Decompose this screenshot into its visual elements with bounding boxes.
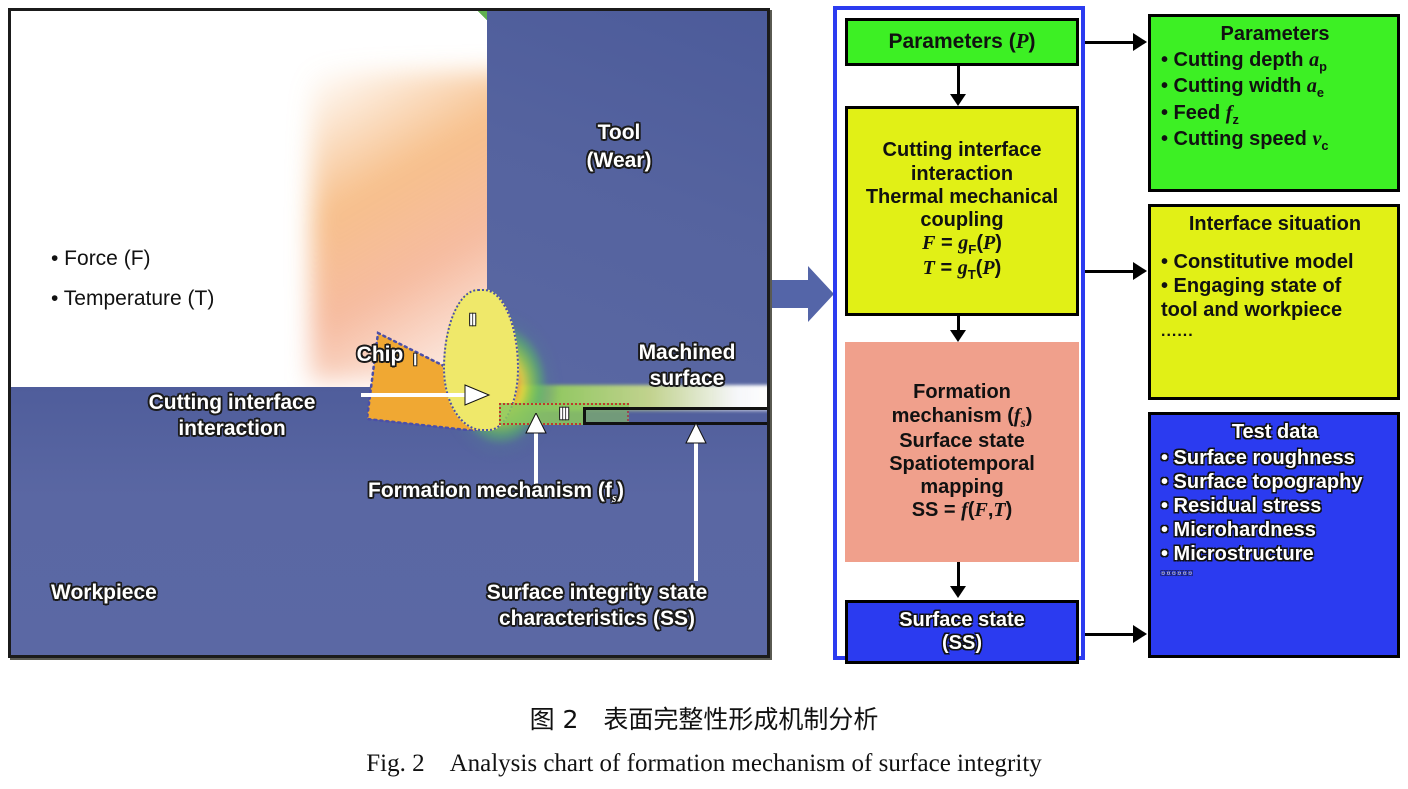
link-parameters (1085, 41, 1135, 44)
panel-interface-situation-item-1: • Engaging state of (1161, 274, 1389, 298)
label-cutting-interface-line2: interaction (117, 417, 347, 442)
flow-box-cii-line-2: Thermal mechanical (866, 186, 1058, 209)
simulation-canvas: Ⅰ Ⅱ Ⅲ Chip Tool (Wear) Machined surface … (11, 11, 767, 655)
flowchart-container: Parameters (P) Cutting interface interac… (833, 6, 1085, 660)
label-formation-mechanism-close: ) (617, 479, 624, 502)
panel-interface-situation[interactable]: Interface situation • Constitutive model… (1148, 204, 1400, 400)
label-temperature: • Temperature (T) (51, 283, 214, 316)
caption-english: Fig. 2 Analysis chart of formation mecha… (0, 750, 1408, 778)
flow-box-ss-line-1: (SS) (942, 632, 982, 655)
flow-box-formation-mechanism[interactable]: Formation mechanism (fs) Surface state S… (845, 342, 1079, 562)
flow-connector-1-head-icon (950, 94, 966, 106)
flow-box-surface-state[interactable]: Surface state (SS) (845, 600, 1079, 664)
panel-parameters-item-3: • Cutting speed vc (1161, 127, 1389, 153)
label-machined-surface-line1: Machined (607, 341, 767, 366)
flow-box-cii-line-0: Cutting interface (883, 139, 1042, 162)
panel-test-data-item-5: ◦◦◦◦◦◦ (1161, 566, 1389, 581)
flow-box-fm-line-5: SS = f(F,T) (912, 499, 1013, 522)
label-tool: Tool (559, 121, 679, 146)
surface-integrity-arrow-icon (683, 423, 709, 583)
panel-test-data-item-3: • Microhardness (1161, 518, 1389, 542)
label-force: • Force (F) (51, 243, 151, 276)
flow-box-fm-line-3: Spatiotemporal (889, 453, 1035, 476)
label-surface-integrity-line1: Surface integrity state (447, 581, 747, 606)
panel-test-data-item-1: • Surface topography (1161, 470, 1389, 494)
link-interface-situation (1085, 270, 1135, 273)
link-interface-situation-head-icon (1133, 262, 1147, 280)
caption-chinese: 图 2 表面完整性形成机制分析 (0, 700, 1408, 736)
flow-connector-1 (957, 66, 960, 96)
panel-interface-situation-item-2: tool and workpiece (1161, 298, 1389, 322)
flow-box-cii-line-4: F = gF(P) (922, 232, 1002, 257)
panel-parameters-item-2: • Feed fz (1161, 101, 1389, 127)
flow-block-arrow-icon (772, 262, 834, 326)
label-formation-mechanism-text: Formation mechanism (f (368, 479, 612, 502)
panel-interface-situation-item-3: ...... (1161, 322, 1389, 341)
label-cutting-interface-line1: Cutting interface (117, 391, 347, 416)
panel-parameters-item-0: • Cutting depth ap (1161, 48, 1389, 74)
panel-test-data[interactable]: Test data • Surface roughness • Surface … (1148, 412, 1400, 658)
label-workpiece: Workpiece (51, 581, 231, 606)
zone-3-roman-label: Ⅲ (559, 405, 569, 424)
panel-test-data-item-0: • Surface roughness (1161, 446, 1389, 470)
panel-parameters-item-1: • Cutting width ae (1161, 74, 1389, 100)
label-chip: Chip (325, 343, 435, 368)
panel-parameters[interactable]: Parameters • Cutting depth ap • Cutting … (1148, 14, 1400, 192)
panel-interface-situation-title: Interface situation (1161, 212, 1389, 236)
cutting-interface-arrow-icon (359, 383, 491, 407)
flow-box-cii-line-5: T = gT(P) (923, 257, 1002, 282)
panel-test-data-title: Test data (1161, 420, 1389, 444)
panel-test-data-item-4: • Microstructure (1161, 542, 1389, 566)
flow-box-fm-line-4: mapping (920, 476, 1003, 499)
panel-parameters-title: Parameters (1161, 22, 1389, 46)
label-surface-integrity-line2: characteristics (SS) (447, 607, 747, 632)
link-test-data (1085, 633, 1135, 636)
flow-box-fm-line-1: mechanism (fs) (892, 405, 1033, 430)
flow-box-cii-line-3: coupling (920, 209, 1003, 232)
flow-connector-3-head-icon (950, 586, 966, 598)
simulation-figure-panel: Ⅰ Ⅱ Ⅲ Chip Tool (Wear) Machined surface … (8, 8, 770, 658)
link-test-data-head-icon (1133, 625, 1147, 643)
machined-surface-indicator (583, 407, 767, 425)
zone-2-roman-label: Ⅱ (469, 311, 476, 330)
flow-box-cutting-interface-interaction[interactable]: Cutting interface interaction Thermal me… (845, 106, 1079, 316)
panel-test-data-item-2: • Residual stress (1161, 494, 1389, 518)
label-formation-mechanism: Formation mechanism (fs) (331, 479, 661, 506)
flow-box-parameters-line-0: Parameters (P) (888, 29, 1035, 54)
label-tool-wear: (Wear) (559, 149, 679, 174)
panel-interface-situation-item-0: • Constitutive model (1161, 250, 1389, 274)
flow-connector-2-head-icon (950, 330, 966, 342)
flow-box-parameters[interactable]: Parameters (P) (845, 18, 1079, 66)
link-parameters-head-icon (1133, 33, 1147, 51)
flow-box-fm-line-0: Formation (913, 381, 1011, 404)
flow-box-ss-line-0: Surface state (899, 609, 1025, 632)
label-machined-surface-line2: surface (607, 367, 767, 392)
flow-box-fm-line-2: Surface state (899, 430, 1025, 453)
flow-box-cii-line-1: interaction (911, 163, 1013, 186)
